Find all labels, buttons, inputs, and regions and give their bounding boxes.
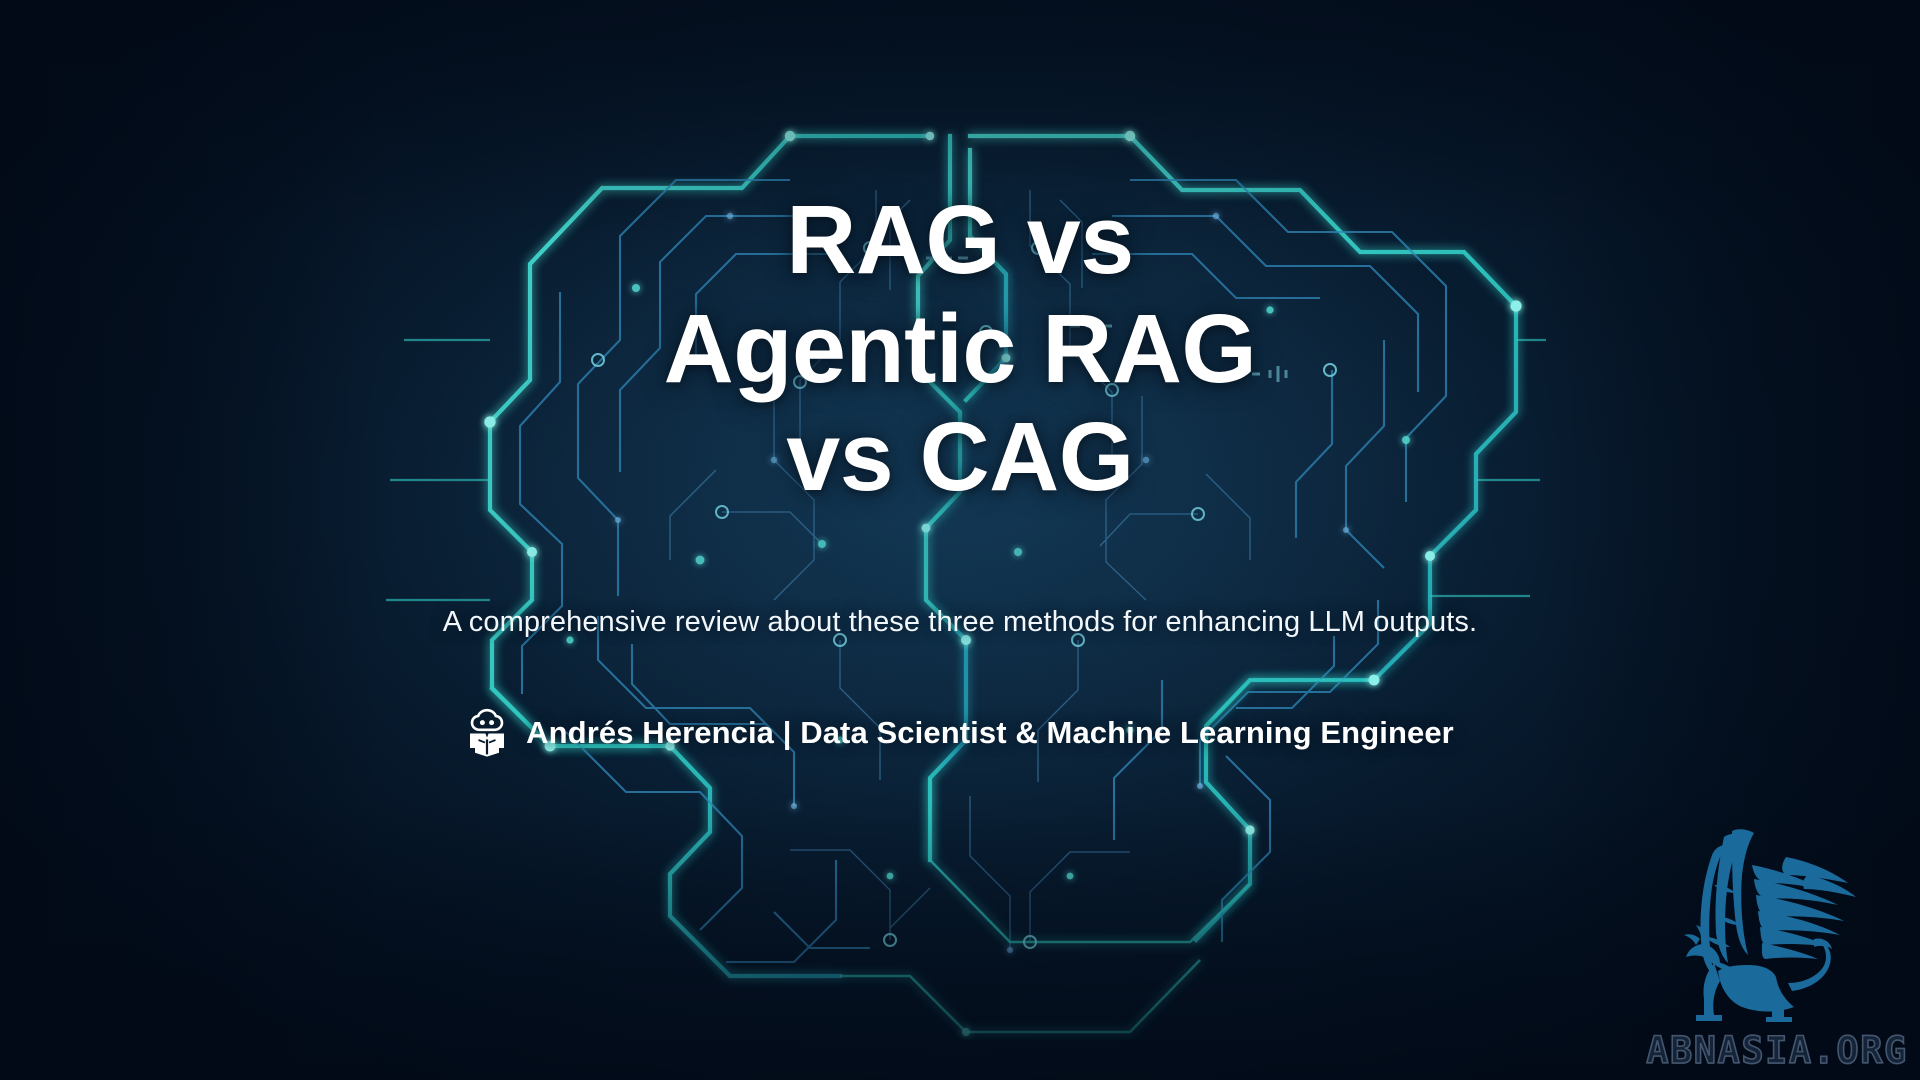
slide-title: RAG vs Agentic RAG vs CAG: [664, 186, 1257, 512]
slide-content: RAG vs Agentic RAG vs CAG A comprehensiv…: [0, 0, 1920, 1080]
author-byline: Andrés Herencia | Data Scientist & Machi…: [466, 707, 1454, 759]
author-name-and-role: Andrés Herencia | Data Scientist & Machi…: [526, 715, 1454, 751]
title-slide: RAG vs Agentic RAG vs CAG A comprehensiv…: [0, 0, 1920, 1080]
slide-subtitle: A comprehensive review about these three…: [443, 606, 1477, 639]
robot-reading-book-icon: [466, 707, 508, 759]
